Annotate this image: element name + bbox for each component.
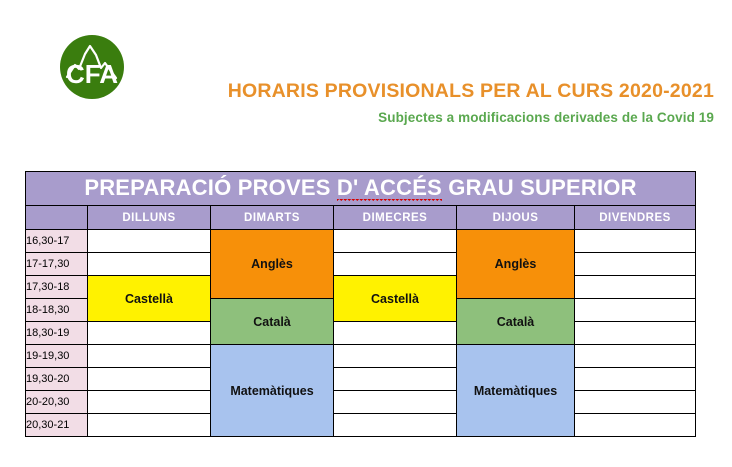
table-row: 19,30-20 [26, 368, 696, 391]
banner-text-before: PREPARACIÓ PROVES [84, 175, 337, 200]
cell-dimarts-angles[interactable]: Anglès [211, 230, 334, 299]
cell-dilluns-castella[interactable]: Castellà [88, 276, 211, 322]
cell-dimecres-castella[interactable]: Castellà [334, 276, 457, 322]
table-row: 17-17,30 [26, 253, 696, 276]
cfa-mountain-logo: CFA [58, 33, 126, 101]
table-row: 19-19,30 Matemàtiques Matemàtiques [26, 345, 696, 368]
page-title: HORARIS PROVISIONALS PER AL CURS 2020-20… [194, 80, 714, 102]
cell-divendres-9[interactable] [575, 414, 696, 437]
time-label: 19-19,30 [26, 345, 88, 368]
cell-dimecres-1[interactable] [334, 230, 457, 253]
cell-divendres-1[interactable] [575, 230, 696, 253]
timetable-banner-row: PREPARACIÓ PROVES D' ACCÉS GRAU SUPERIOR [26, 172, 696, 206]
logo-text: CFA [66, 59, 118, 89]
time-label: 16,30-17 [26, 230, 88, 253]
cell-dimarts-catala[interactable]: Català [211, 299, 334, 345]
banner-text-misspelled: D' ACCÉS [337, 177, 442, 199]
cfa-logo-svg: CFA [58, 33, 126, 101]
time-label: 20-20,30 [26, 391, 88, 414]
cell-dijous-catala[interactable]: Català [457, 299, 575, 345]
day-header-dimarts: DIMARTS [211, 206, 334, 230]
cell-divendres-2[interactable] [575, 253, 696, 276]
cell-divendres-7[interactable] [575, 368, 696, 391]
cell-dilluns-6[interactable] [88, 345, 211, 368]
cell-divendres-6[interactable] [575, 345, 696, 368]
time-label: 17-17,30 [26, 253, 88, 276]
cell-dijous-angles[interactable]: Anglès [457, 230, 575, 299]
cell-dilluns-8[interactable] [88, 391, 211, 414]
cell-dilluns-1[interactable] [88, 230, 211, 253]
cell-dimecres-9[interactable] [334, 414, 457, 437]
timetable: PREPARACIÓ PROVES D' ACCÉS GRAU SUPERIOR… [25, 171, 696, 437]
banner-text: PREPARACIÓ PROVES D' ACCÉS GRAU SUPERIOR [84, 177, 636, 199]
cell-dimecres-6[interactable] [334, 345, 457, 368]
page-subtitle: Subjectes a modificacions derivades de l… [194, 110, 714, 125]
page-header: CFA HORARIS PROVISIONALS PER AL CURS 202… [0, 0, 732, 160]
table-row: 16,30-17 Anglès Anglès [26, 230, 696, 253]
day-header-dijous: DIJOUS [457, 206, 575, 230]
cell-divendres-3[interactable] [575, 276, 696, 299]
cell-dilluns-2[interactable] [88, 253, 211, 276]
table-row: 18,30-19 [26, 322, 696, 345]
cell-divendres-8[interactable] [575, 391, 696, 414]
table-row: 17,30-18 Castellà Castellà [26, 276, 696, 299]
cell-divendres-4[interactable] [575, 299, 696, 322]
day-header-row: DILLUNS DIMARTS DIMECRES DIJOUS DIVENDRE… [26, 206, 696, 230]
banner-text-after: GRAU SUPERIOR [442, 175, 637, 200]
cell-dimarts-matematiques[interactable]: Matemàtiques [211, 345, 334, 437]
day-header-dilluns: DILLUNS [88, 206, 211, 230]
table-row: 20,30-21 [26, 414, 696, 437]
table-row: 20-20,30 [26, 391, 696, 414]
time-label: 20,30-21 [26, 414, 88, 437]
title-block: HORARIS PROVISIONALS PER AL CURS 2020-20… [194, 80, 714, 125]
cell-dilluns-9[interactable] [88, 414, 211, 437]
cell-dilluns-7[interactable] [88, 368, 211, 391]
cell-dimecres-2[interactable] [334, 253, 457, 276]
time-label: 19,30-20 [26, 368, 88, 391]
time-label: 18-18,30 [26, 299, 88, 322]
cell-dimecres-8[interactable] [334, 391, 457, 414]
cell-divendres-5[interactable] [575, 322, 696, 345]
time-label: 17,30-18 [26, 276, 88, 299]
day-header-divendres: DIVENDRES [575, 206, 696, 230]
cell-dijous-matematiques[interactable]: Matemàtiques [457, 345, 575, 437]
corner-header [26, 206, 88, 230]
time-label: 18,30-19 [26, 322, 88, 345]
cell-dimecres-7[interactable] [334, 368, 457, 391]
timetable-banner: PREPARACIÓ PROVES D' ACCÉS GRAU SUPERIOR [26, 172, 696, 206]
cell-dilluns-5[interactable] [88, 322, 211, 345]
cell-dimecres-5[interactable] [334, 322, 457, 345]
day-header-dimecres: DIMECRES [334, 206, 457, 230]
